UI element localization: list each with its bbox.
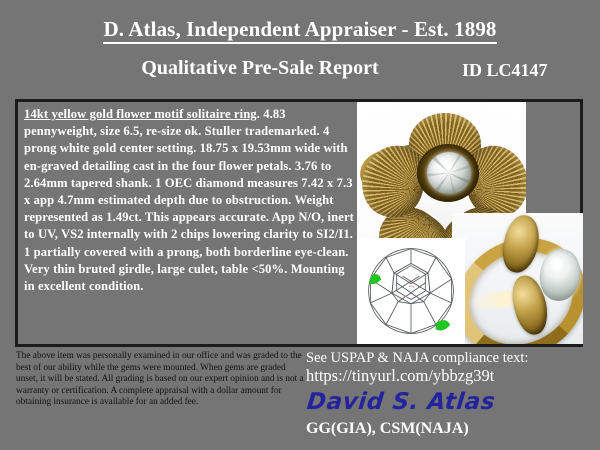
page-title: D. Atlas, Independent Appraiser - Est. 1… xyxy=(0,17,600,42)
appraisal-report-page: D. Atlas, Independent Appraiser - Est. 1… xyxy=(0,0,600,450)
center-diamond-facets xyxy=(427,152,471,194)
diamond-plot-svg xyxy=(357,238,465,344)
appraiser-credentials: GG(GIA), CSM(NAJA) xyxy=(306,420,469,438)
disclaimer-text: The above item was personally examined i… xyxy=(16,351,308,409)
item-id-label: ID LC4147 xyxy=(462,60,548,81)
report-subtitle: Qualitative Pre-Sale Report xyxy=(60,57,460,80)
diamond-clarity-plot xyxy=(357,238,465,344)
item-description-body: . 4.83 pennyweight, size 6.5, re-size ok… xyxy=(24,107,354,293)
compliance-url-link[interactable]: https://tinyurl.com/ybbzg39t xyxy=(306,366,494,386)
ring-profile-photo xyxy=(452,213,583,344)
page-title-text: D. Atlas, Independent Appraiser - Est. 1… xyxy=(103,17,496,44)
appraiser-signature: David S. Atlas xyxy=(306,389,497,415)
compliance-label: See USPAP & NAJA compliance text: xyxy=(306,350,528,367)
item-description: 14kt yellow gold flower motif solitaire … xyxy=(24,106,354,340)
item-description-lead: 14kt yellow gold flower motif solitaire … xyxy=(24,107,257,121)
